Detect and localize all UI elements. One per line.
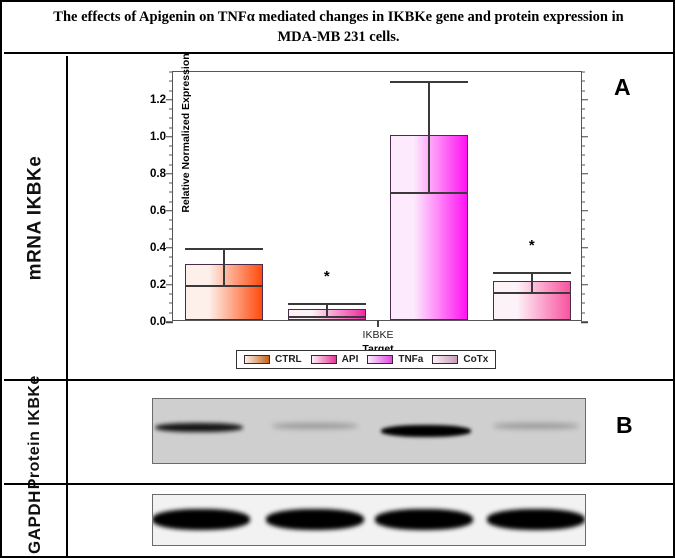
y-tick-minor-right <box>581 257 585 258</box>
legend-label: CTRL <box>275 354 302 365</box>
y-tick-minor <box>169 303 173 304</box>
blot-gapdh-box <box>152 494 586 546</box>
y-tick-label: 1.0 <box>150 131 166 143</box>
row-label-gapdh-text: GAPDH <box>25 490 45 554</box>
legend-item-tnfa: TNFa <box>367 354 423 365</box>
y-tick-minor <box>169 90 173 91</box>
y-tick-mark-right <box>581 284 588 286</box>
y-tick-minor <box>169 192 173 193</box>
x-tick-label: IKBKE <box>363 329 394 341</box>
y-tick-mark <box>166 173 173 175</box>
y-tick-minor <box>169 109 173 110</box>
y-tick-minor <box>169 266 173 267</box>
plot-frame: Relative Normalized Expression 0.00.20.4… <box>172 71 582 321</box>
error-bar-stem <box>223 248 225 285</box>
y-tick-minor-right <box>581 303 585 304</box>
y-tick-mark-right <box>581 173 588 175</box>
y-tick-mark <box>166 321 173 323</box>
blot-protein-box <box>152 398 586 464</box>
y-tick-minor <box>169 312 173 313</box>
y-tick-label: 0.0 <box>150 316 166 328</box>
legend-swatch <box>367 355 393 364</box>
y-tick-minor <box>169 81 173 82</box>
y-tick-minor-right <box>581 146 585 147</box>
y-tick-label: 1.2 <box>150 94 166 106</box>
y-tick-minor <box>169 275 173 276</box>
row-label-protein-ikbke: Protein IKBKe <box>4 381 68 483</box>
blot-gapdh <box>152 494 586 546</box>
y-tick-mark-right <box>581 321 588 323</box>
significance-marker: * <box>529 238 535 253</box>
y-tick-minor <box>169 238 173 239</box>
y-tick-minor <box>169 118 173 119</box>
y-tick-minor-right <box>581 81 585 82</box>
y-tick-minor-right <box>581 229 585 230</box>
row-label-mrna-ikbke: mRNA IKBKe <box>4 56 68 379</box>
y-tick-label: 0.6 <box>150 205 166 217</box>
legend-item-api: API <box>311 354 359 365</box>
figure-title-cell: The effects of Apigenin on TNFα mediated… <box>4 4 673 54</box>
significance-marker: * <box>324 269 330 284</box>
divider-panel-b <box>4 483 673 485</box>
y-tick-minor-right <box>581 220 585 221</box>
panel-a-chart: Relative Normalized Expression 0.00.20.4… <box>68 56 673 379</box>
y-tick-minor <box>169 127 173 128</box>
y-tick-minor <box>169 72 173 73</box>
error-bar-cap-lower <box>288 316 366 318</box>
legend-swatch <box>244 355 270 364</box>
y-tick-mark-right <box>581 99 588 101</box>
y-tick-minor-right <box>581 109 585 110</box>
row-label-gapdh: GAPDH <box>4 485 68 558</box>
y-tick-minor <box>169 294 173 295</box>
y-tick-minor-right <box>581 201 585 202</box>
y-tick-minor-right <box>581 312 585 313</box>
legend-label: CoTx <box>463 354 488 365</box>
y-tick-minor-right <box>581 127 585 128</box>
y-tick-minor <box>169 201 173 202</box>
y-tick-minor <box>169 146 173 147</box>
y-tick-mark-right <box>581 210 588 212</box>
y-tick-minor-right <box>581 183 585 184</box>
plot-inner: 0.00.20.40.60.81.01.2**IKBKETarget <box>173 72 581 320</box>
error-bar-cap-lower <box>493 292 571 294</box>
y-tick-minor-right <box>581 238 585 239</box>
y-tick-minor-right <box>581 118 585 119</box>
error-bar-cap-lower <box>185 285 263 287</box>
panel-b-letter: B <box>616 412 633 439</box>
legend-label: TNFa <box>398 354 423 365</box>
y-tick-minor-right <box>581 192 585 193</box>
y-tick-minor-right <box>581 164 585 165</box>
blot-band-cotx <box>493 423 579 429</box>
y-tick-minor-right <box>581 72 585 73</box>
page-title: The effects of Apigenin on TNFα mediated… <box>34 8 643 47</box>
row-label-protein-text: Protein IKBKe <box>26 375 44 489</box>
legend-item-cotx: CoTx <box>432 354 488 365</box>
blot-protein-ikbke <box>152 398 586 464</box>
y-tick-minor <box>169 257 173 258</box>
error-bar-stem <box>326 303 328 316</box>
y-tick-minor-right <box>581 294 585 295</box>
y-tick-mark-right <box>581 136 588 138</box>
y-tick-minor-right <box>581 155 585 156</box>
y-tick-minor-right <box>581 275 585 276</box>
row-label-mrna-text: mRNA IKBKe <box>24 155 46 280</box>
legend-item-ctrl: CTRL <box>244 354 302 365</box>
error-bar-stem <box>531 272 533 292</box>
y-tick-mark <box>166 99 173 101</box>
divider-panel-a <box>4 379 673 381</box>
blot-band-cotx <box>487 509 585 530</box>
legend-swatch <box>311 355 337 364</box>
y-tick-minor <box>169 229 173 230</box>
y-tick-minor <box>169 164 173 165</box>
error-bar-cap-lower <box>390 192 468 194</box>
y-tick-mark-right <box>581 247 588 249</box>
legend-label: API <box>342 354 359 365</box>
blot-band-api <box>272 423 358 429</box>
y-tick-label: 0.4 <box>150 242 166 254</box>
y-tick-minor <box>169 183 173 184</box>
figure-container: The effects of Apigenin on TNFα mediated… <box>0 0 675 558</box>
y-tick-minor <box>169 220 173 221</box>
y-tick-label: 0.2 <box>150 279 166 291</box>
y-tick-mark <box>166 284 173 286</box>
blot-band-ctrl <box>152 509 250 530</box>
y-tick-mark <box>166 136 173 138</box>
blot-band-ctrl <box>155 423 243 432</box>
blot-band-tnfa <box>375 509 473 530</box>
y-tick-mark <box>166 247 173 249</box>
chart-legend: CTRLAPITNFaCoTx <box>236 350 496 369</box>
blot-band-tnfa <box>381 425 471 437</box>
legend-swatch <box>432 355 458 364</box>
y-tick-mark <box>166 210 173 212</box>
y-tick-minor <box>169 155 173 156</box>
x-tick-mark <box>377 320 379 327</box>
y-tick-label: 0.8 <box>150 168 166 180</box>
y-tick-minor-right <box>581 90 585 91</box>
y-tick-minor-right <box>581 266 585 267</box>
error-bar-stem <box>428 81 430 192</box>
blot-band-api <box>266 509 364 530</box>
